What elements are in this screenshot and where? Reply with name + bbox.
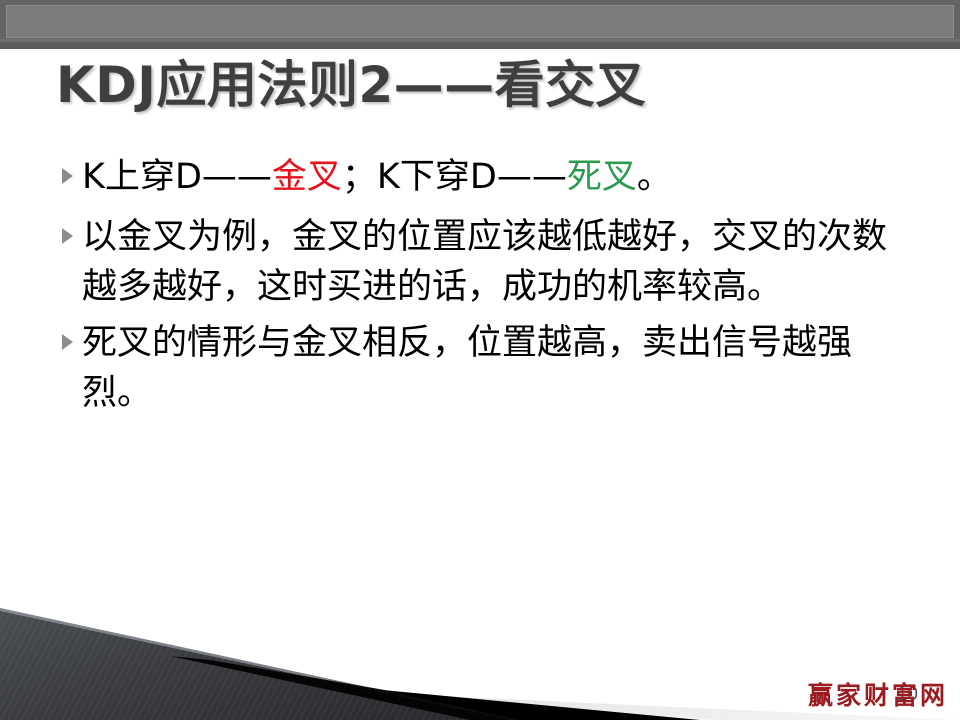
deco-black-wedge bbox=[0, 654, 700, 720]
top-decorative-band bbox=[0, 0, 960, 49]
watermark-text: 赢家财富网 bbox=[808, 676, 948, 712]
deco-dark-wedge bbox=[0, 608, 520, 720]
bullet-text-3: 死叉的情形与金叉相反，位置越高，卖出信号越强烈。 bbox=[82, 318, 910, 418]
bullet-text-2: 以金叉为例，金叉的位置应该越低越好，交叉的次数越多越好，这时买进的话，成功的机率… bbox=[82, 212, 910, 312]
deco-inner-black-sliver bbox=[170, 656, 560, 720]
slide-canvas: KDJ应用法则2——看交叉 K上穿D——金叉；K下穿D——死叉。 以金叉为例，金… bbox=[0, 0, 960, 720]
list-item: K上穿D——金叉；K下穿D——死叉。 bbox=[60, 152, 910, 202]
triangle-right-icon bbox=[60, 212, 82, 244]
list-item: 以金叉为例，金叉的位置应该越低越好，交叉的次数越多越好，这时买进的话，成功的机率… bbox=[60, 212, 910, 312]
triangle-right-icon bbox=[60, 318, 82, 350]
list-item: 死叉的情形与金叉相反，位置越高，卖出信号越强烈。 bbox=[60, 318, 910, 418]
bullet-1-seg-1-gold-cross: 金叉 bbox=[272, 157, 342, 197]
bullet-1-seg-0: K上穿D—— bbox=[82, 157, 272, 197]
slide-title: KDJ应用法则2——看交叉 bbox=[56, 52, 936, 118]
bullet-text-1: K上穿D——金叉；K下穿D——死叉。 bbox=[82, 152, 910, 202]
bullet-1-seg-3-dead-cross: 死叉 bbox=[567, 157, 637, 197]
bullet-1-seg-2: ；K下穿D—— bbox=[342, 157, 567, 197]
top-band-base-strip bbox=[0, 42, 960, 49]
deco-edge-highlight bbox=[0, 608, 520, 720]
deco-carbon-texture bbox=[0, 608, 520, 720]
triangle-right-icon bbox=[60, 152, 82, 184]
top-band-inner-panel bbox=[6, 5, 954, 38]
deco-light-wedge-2 bbox=[0, 664, 720, 720]
bullet-1-seg-4: 。 bbox=[637, 157, 672, 197]
bullet-list: K上穿D——金叉；K下穿D——死叉。 以金叉为例，金叉的位置应该越低越好，交叉的… bbox=[60, 152, 910, 422]
